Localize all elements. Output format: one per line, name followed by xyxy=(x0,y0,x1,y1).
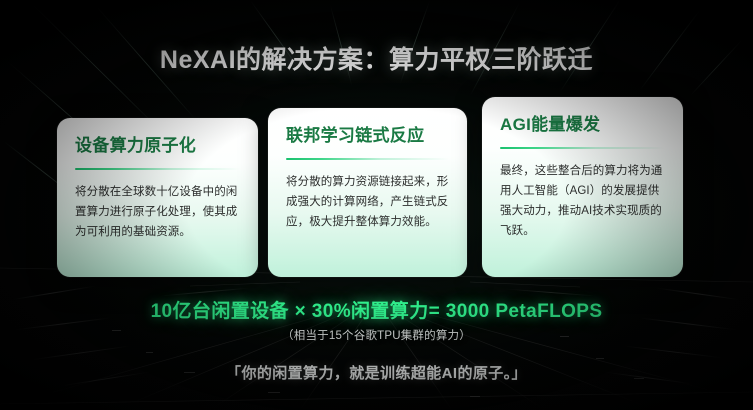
slide-root: NeXAI的解决方案：算力平权三阶跃迁 设备算力原子化 将分散在全球数十亿设备中… xyxy=(0,0,753,410)
card-title: 联邦学习链式反应 xyxy=(286,126,451,146)
formula-highlight: 10亿台闲置设备 × 30%闲置算力= 3000 PetaFLOPS xyxy=(0,296,753,323)
card-divider xyxy=(286,158,449,160)
page-title: NeXAI的解决方案：算力平权三阶跃迁 xyxy=(0,40,753,76)
closing-quote: 「你的闲置算力，就是训练超能AI的原子。」 xyxy=(0,362,753,383)
card-title: 设备算力原子化 xyxy=(75,136,242,156)
card-body: 将分散在全球数十亿设备中的闲置算力进行原子化处理，使其成为可利用的基础资源。 xyxy=(75,183,240,242)
solution-card-3: AGI能量爆发 最终，这些整合后的算力将为通用人工智能（AGI）的发展提供强大动… xyxy=(482,97,683,277)
card-title: AGI能量爆发 xyxy=(500,115,667,135)
card-body: 最终，这些整合后的算力将为通用人工智能（AGI）的发展提供强大动力，推动AI技术… xyxy=(500,162,665,241)
formula-note: （相当于15个谷歌TPU集群的算力） xyxy=(0,327,753,343)
card-divider xyxy=(75,168,240,170)
solution-card-1: 设备算力原子化 将分散在全球数十亿设备中的闲置算力进行原子化处理，使其成为可利用… xyxy=(57,118,258,277)
solution-card-2: 联邦学习链式反应 将分散的算力资源链接起来，形成强大的计算网络，产生链式反应，极… xyxy=(268,108,467,277)
card-body: 将分散的算力资源链接起来，形成强大的计算网络，产生链式反应，极大提升整体算力效能… xyxy=(286,173,449,232)
card-divider xyxy=(500,147,665,149)
